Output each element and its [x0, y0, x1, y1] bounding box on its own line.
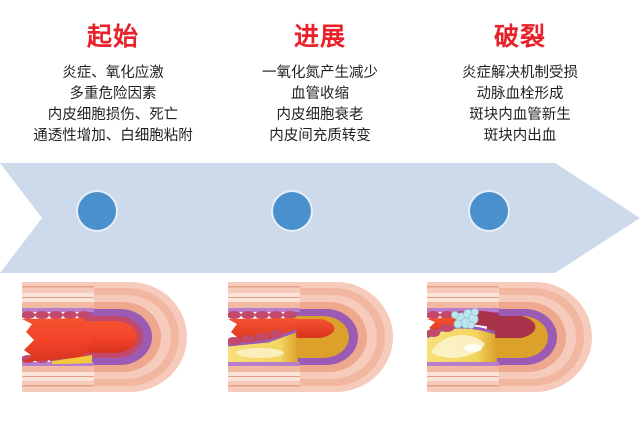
stage-lines-rupture: 炎症解决机制受损 动脉血栓形成 斑块内血管新生 斑块内出血 [415, 63, 625, 148]
artery-illustration-stenotic [228, 278, 396, 396]
stage-circle-2[interactable] [273, 192, 311, 230]
stage-block-rupture: 破裂 炎症解决机制受损 动脉血栓形成 斑块内血管新生 斑块内出血 [415, 24, 625, 147]
artery-illustration-ruptured [427, 278, 595, 396]
artery-dome-layers-3 [487, 282, 592, 392]
plaque-core-2 [236, 348, 284, 358]
artery-dome-layers-1 [82, 282, 187, 392]
stage-circle-3[interactable] [470, 192, 508, 230]
stage-title-progression: 进展 [215, 24, 425, 52]
stage-line: 血管收缩 [215, 84, 425, 105]
stage-title-initiation: 起始 [8, 24, 218, 52]
artery-lumen-1 [22, 318, 92, 362]
artery-dome-layers-2 [288, 282, 393, 392]
stage-line: 炎症、氧化应激 [8, 63, 218, 84]
stage-line: 内皮间充质转变 [215, 126, 425, 147]
stage-line: 内皮细胞损伤、死亡 [8, 105, 218, 126]
stage-line: 斑块内血管新生 [415, 105, 625, 126]
lipid-core-highlight-3 [464, 344, 482, 352]
stage-line: 通透性增加、白细胞粘附 [8, 126, 218, 147]
stage-line: 一氧化氮产生减少 [215, 63, 425, 84]
stage-line: 动脉血栓形成 [415, 84, 625, 105]
stage-line: 内皮细胞衰老 [215, 105, 425, 126]
stage-circle-1[interactable] [78, 192, 116, 230]
diagram-canvas: 起始 炎症、氧化应激 多重危险因素 内皮细胞损伤、死亡 通透性增加、白细胞粘附 … [0, 0, 640, 421]
thrombus-icon [452, 309, 479, 329]
stage-line: 多重危险因素 [8, 84, 218, 105]
stage-title-rupture: 破裂 [415, 24, 625, 52]
stage-lines-initiation: 炎症、氧化应激 多重危险因素 内皮细胞损伤、死亡 通透性增加、白细胞粘附 [8, 63, 218, 148]
stage-block-initiation: 起始 炎症、氧化应激 多重危险因素 内皮细胞损伤、死亡 通透性增加、白细胞粘附 [8, 24, 218, 147]
stage-lines-progression: 一氧化氮产生减少 血管收缩 内皮细胞衰老 内皮间充质转变 [215, 63, 425, 148]
artery-illustration-healthy [22, 278, 190, 396]
stage-block-progression: 进展 一氧化氮产生减少 血管收缩 内皮细胞衰老 内皮间充质转变 [215, 24, 425, 147]
stage-line: 炎症解决机制受损 [415, 63, 625, 84]
stage-line: 斑块内出血 [415, 126, 625, 147]
